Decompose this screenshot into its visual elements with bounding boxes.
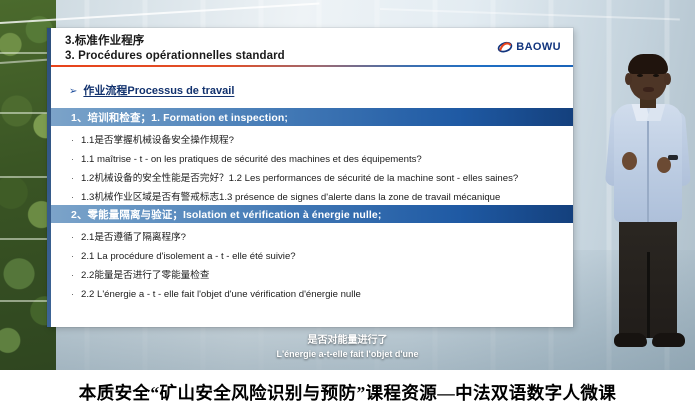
bullet-dot-icon: · [71, 285, 74, 304]
list-item: · 2.2能量是否进行了零能量检查 [71, 266, 561, 285]
presenter-shirt-placket [647, 118, 649, 222]
bullet-dot-icon: · [71, 169, 74, 188]
list-item: · 1.1是否掌握机械设备安全操作规程? [71, 131, 561, 150]
title-divider-rule [51, 65, 573, 67]
list-item: · 2.2 L'énergie a - t - elle fait l'obje… [71, 285, 561, 304]
slide-title-fr: 3. Procédures opérationnelles standard [65, 49, 563, 64]
baowu-logo-text: BAOWU [516, 41, 561, 53]
list-item-text: 2.1 La procédure d'isolement a - t - ell… [81, 247, 296, 266]
list-item: · 1.2机械设备的安全性能是否完好？1.2 Les performances … [71, 169, 561, 188]
list-item: · 1.1 maîtrise - t - on les pratiques de… [71, 150, 561, 169]
list-item-text: 2.1是否遵循了隔离程序? [81, 228, 186, 247]
bullet-dot-icon: · [71, 266, 74, 285]
section-header-bar-2: 2、零能量隔离与验证；Isolation et vérification à é… [51, 205, 573, 223]
section-bullet-list-1: · 1.1是否掌握机械设备安全操作规程? · 1.1 maîtrise - t … [71, 131, 561, 207]
section-header-bar-1: 1、培训和检查；1. Formation et inspection; [51, 108, 573, 126]
list-item-text: 2.2 L'énergie a - t - elle fait l'objet … [81, 285, 361, 304]
presenter-wristwatch [668, 155, 678, 160]
presenter-eye-left [637, 74, 643, 77]
video-subtitle-zh: 是否对能量进行了 [0, 334, 695, 348]
section-header-label-2: 2、零能量隔离与验证；Isolation et vérification à é… [51, 207, 381, 222]
presenter-ear-right [664, 73, 671, 85]
presentation-slide: 3.标准作业程序 3. Procédures opérationnelles s… [47, 28, 573, 327]
list-item: · 2.1 La procédure d'isolement a - t - e… [71, 247, 561, 266]
baowu-swirl-icon [497, 40, 513, 54]
arrow-right-icon: ➢ [69, 86, 77, 98]
bullet-dot-icon: · [71, 247, 74, 266]
presenter-ear-left [625, 73, 632, 85]
slide-subheading-label: 作业流程Processus de travail [83, 82, 234, 98]
list-item-text: 2.2能量是否进行了零能量检查 [81, 266, 209, 285]
list-item: · 2.1是否遵循了隔离程序? [71, 228, 561, 247]
video-subtitle-fr: L'énergie a-t-elle fait l'objet d'une [0, 348, 695, 361]
video-frame: 3.标准作业程序 3. Procédures opérationnelles s… [0, 0, 695, 370]
bullet-dot-icon: · [71, 228, 74, 247]
figure-caption-text: 本质安全“矿山安全风险识别与预防”课程资源—中法双语数字人微课 [79, 380, 616, 405]
bullet-dot-icon: · [71, 150, 74, 169]
bullet-dot-icon: · [71, 131, 74, 150]
list-item-text: 1.2机械设备的安全性能是否完好？1.2 Les performances de… [81, 169, 518, 188]
presenter-mouth [643, 87, 654, 92]
slide-title-block: 3.标准作业程序 3. Procédures opérationnelles s… [65, 34, 563, 64]
slide-subheading: ➢ 作业流程Processus de travail [69, 82, 234, 98]
section-header-label-1: 1、培训和检查；1. Formation et inspection; [51, 110, 288, 125]
list-item-text: 1.1 maîtrise - t - on les pratiques de s… [81, 150, 422, 169]
video-subtitle: 是否对能量进行了 L'énergie a-t-elle fait l'objet… [0, 334, 695, 361]
figure-caption-bar: 本质安全“矿山安全风险识别与预防”课程资源—中法双语数字人微课 [0, 370, 695, 415]
slide-title-zh: 3.标准作业程序 [65, 34, 563, 49]
section-bullet-list-2: · 2.1是否遵循了隔离程序? · 2.1 La procédure d'iso… [71, 228, 561, 304]
presenter-leg-split [647, 252, 650, 338]
digital-human-presenter [600, 56, 695, 370]
presenter-eye-right [653, 74, 659, 77]
presenter-hair [628, 54, 668, 74]
list-item-text: 1.1是否掌握机械设备安全操作规程? [81, 131, 234, 150]
baowu-logo: BAOWU [497, 40, 561, 54]
presenter-hand-left [622, 152, 637, 170]
slide-left-rail [47, 28, 51, 327]
